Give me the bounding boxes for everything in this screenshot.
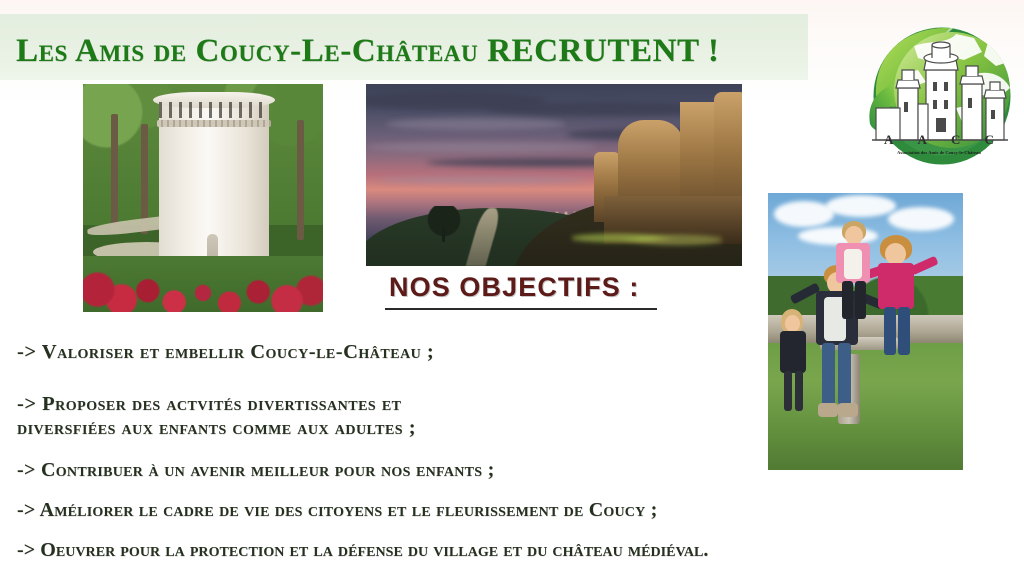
association-logo: A A C C Association des Amis de Coucy-le… [856,12,1022,182]
objectives-heading-underline [385,308,657,310]
tree-trunk [111,114,118,234]
cloud [386,118,566,130]
objectives-heading: NOS OBJECTIFS : [389,272,657,303]
objective-item: -> Améliorer le cadre de vie des citoyen… [17,499,657,523]
objective-text-line2: diversfiées aux enfants comme aux adulte… [17,416,416,440]
logo-initials: A A C C [872,132,1006,148]
logo-caption: Association des Amis de Coucy-le-Château [874,150,1004,155]
tower-corbel-course [157,120,271,127]
objective-item: -> Oeuvrer pour la protection et la défe… [17,539,709,563]
castle-floodlights [572,228,722,248]
objective-item: -> Valoriser et embellir Coucy-le-Châtea… [17,340,434,364]
bullet-arrow: -> [17,459,36,481]
objectives-heading-block: NOS OBJECTIFS : [389,272,657,310]
lone-tree [424,206,464,240]
child-figure [830,221,882,321]
objective-text: Améliorer le cadre de vie des citoyens e… [40,499,658,521]
tower-openings [159,102,269,118]
photo-children-jumping [768,193,963,470]
cloud [774,201,834,227]
objective-item: -> Proposer des actvités divertissantes … [17,392,416,440]
cloud [376,176,586,184]
cloud [366,142,596,152]
objective-text: Oeuvrer pour la protection et la défense… [40,539,708,561]
cloud [826,195,896,217]
photo-white-tower-park [83,84,323,312]
objective-text: Contribuer à un avenir meilleur pour nos… [41,459,495,481]
logo-artwork [856,12,1022,182]
page-title: Les Amis de Coucy-Le-Château RECRUTENT ! [16,33,720,70]
logo-letter: C [985,132,994,148]
cloud [888,207,954,231]
bullet-arrow: -> [17,341,37,363]
logo-letter: A [884,132,893,148]
logo-letter: A [918,132,927,148]
logo-letter: C [951,132,960,148]
objective-text: Proposer des actvités divertissantes et [42,393,401,415]
objective-text: Valoriser et embellir Coucy-le-Château ; [42,341,434,363]
bullet-arrow: -> [17,499,35,521]
bullet-arrow: -> [17,393,37,415]
poster-canvas: Les Amis de Coucy-Le-Château RECRUTENT ! [0,0,1024,576]
tree-trunk [297,120,304,240]
bullet-arrow: -> [17,539,35,561]
photo-castle-twilight [366,84,742,266]
red-flower-bed [83,256,323,312]
objective-item: -> Contribuer à un avenir meilleur pour … [17,459,495,483]
